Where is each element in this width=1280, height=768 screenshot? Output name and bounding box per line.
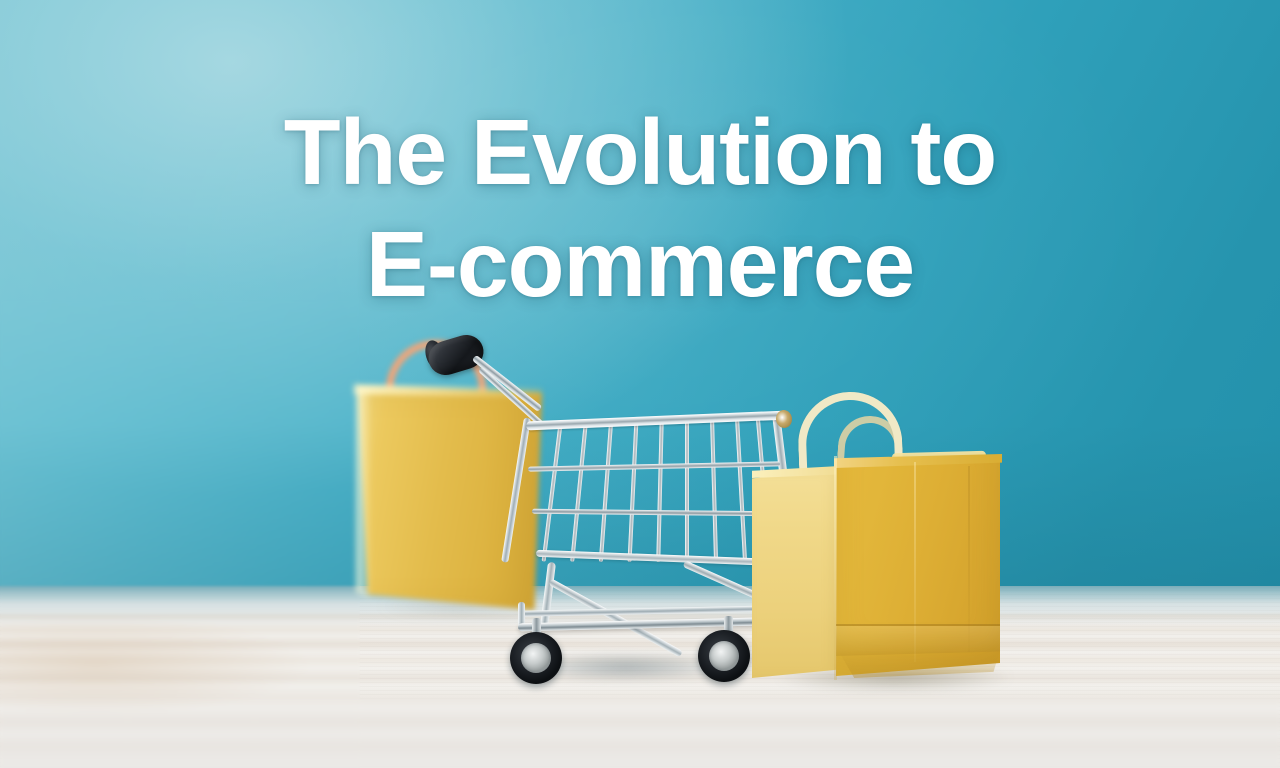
- cart-frame-base: [518, 617, 790, 632]
- bag-left-side-fold: [356, 386, 372, 610]
- cart-basket-rail-lower: [532, 509, 772, 517]
- cart-wheel-hub: [521, 643, 551, 673]
- cart-frame-base-upper: [522, 605, 782, 616]
- page-title: The Evolution to E-commerce: [0, 96, 1280, 320]
- cart-mesh-wire: [685, 417, 689, 562]
- title-line-2: E-commerce: [0, 208, 1280, 320]
- hero-image: The Evolution to E-commerce: [0, 0, 1280, 768]
- bag-right-side-panel: [752, 470, 838, 678]
- cart-mesh-wire: [599, 420, 613, 562]
- cart-mesh-wire: [710, 416, 718, 561]
- cart-basket-rail-middle: [528, 461, 780, 471]
- cart-mesh-wire: [735, 416, 747, 562]
- cart-basket-rail-top: [526, 411, 788, 431]
- title-line-1: The Evolution to: [0, 96, 1280, 208]
- shopping-cart: [432, 332, 782, 674]
- shopping-bag-right: [752, 392, 1020, 684]
- cart-wheel-rear: [510, 632, 562, 684]
- cart-wheel-front: [698, 630, 750, 682]
- cart-mesh-wire: [628, 419, 639, 562]
- cart-mesh-wire: [542, 424, 563, 561]
- bag-right-bottom-flap: [838, 650, 1000, 678]
- cart-basket-post-back: [501, 417, 531, 562]
- cart-mesh-wire: [570, 422, 588, 562]
- cart-frame-diagonal-rear: [548, 578, 683, 657]
- cart-basket-rail-bottom: [536, 550, 758, 566]
- cart-handle-arm-upper: [472, 355, 543, 412]
- cart-frame-upright: [540, 562, 556, 628]
- cart-wheel-hub: [709, 641, 739, 671]
- cart-mesh-wire: [656, 418, 664, 562]
- table-warm-highlight: [0, 610, 480, 720]
